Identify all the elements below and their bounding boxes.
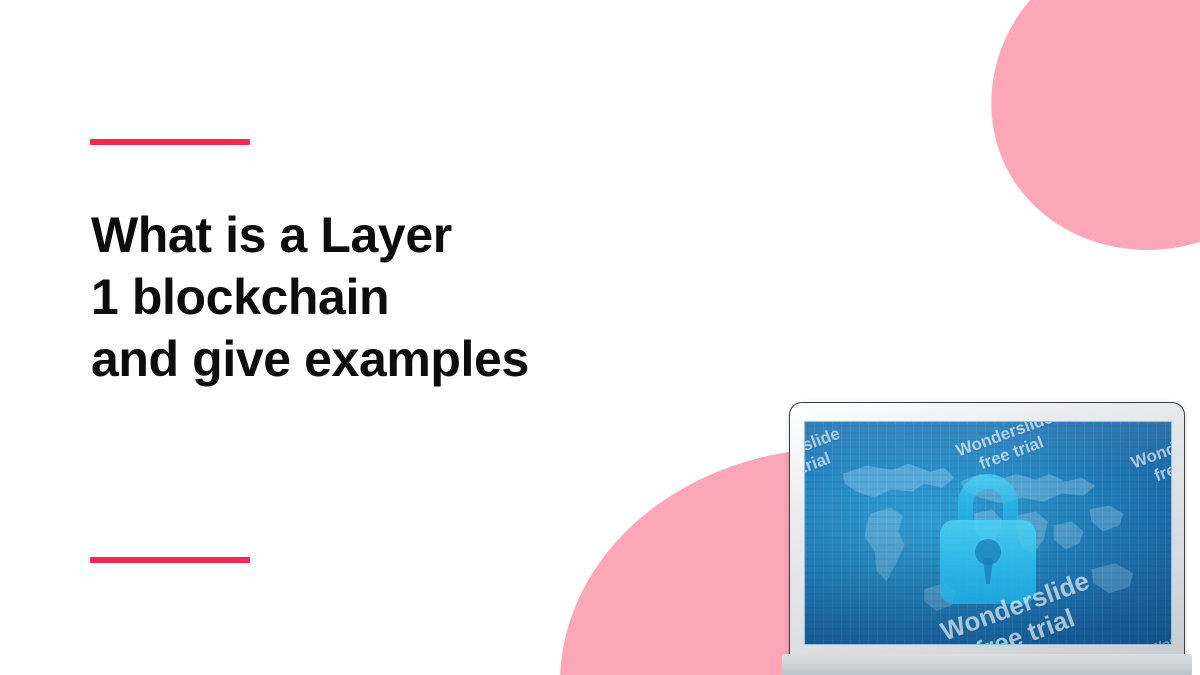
padlock-icon xyxy=(922,460,1054,610)
pink-blob-top-right xyxy=(961,0,1200,280)
laptop-screen: Wonderslide free trial Wonderslide free … xyxy=(804,421,1172,645)
accent-rule-bottom xyxy=(90,557,250,563)
laptop-lid: Wonderslide free trial Wonderslide free … xyxy=(789,402,1185,660)
accent-rule-top xyxy=(90,139,250,145)
laptop-illustration: Wonderslide free trial Wonderslide free … xyxy=(789,402,1185,675)
slide-title: What is a Layer 1 blockchain and give ex… xyxy=(91,204,731,390)
laptop-base xyxy=(782,654,1192,675)
slide-canvas: What is a Layer 1 blockchain and give ex… xyxy=(0,0,1200,675)
